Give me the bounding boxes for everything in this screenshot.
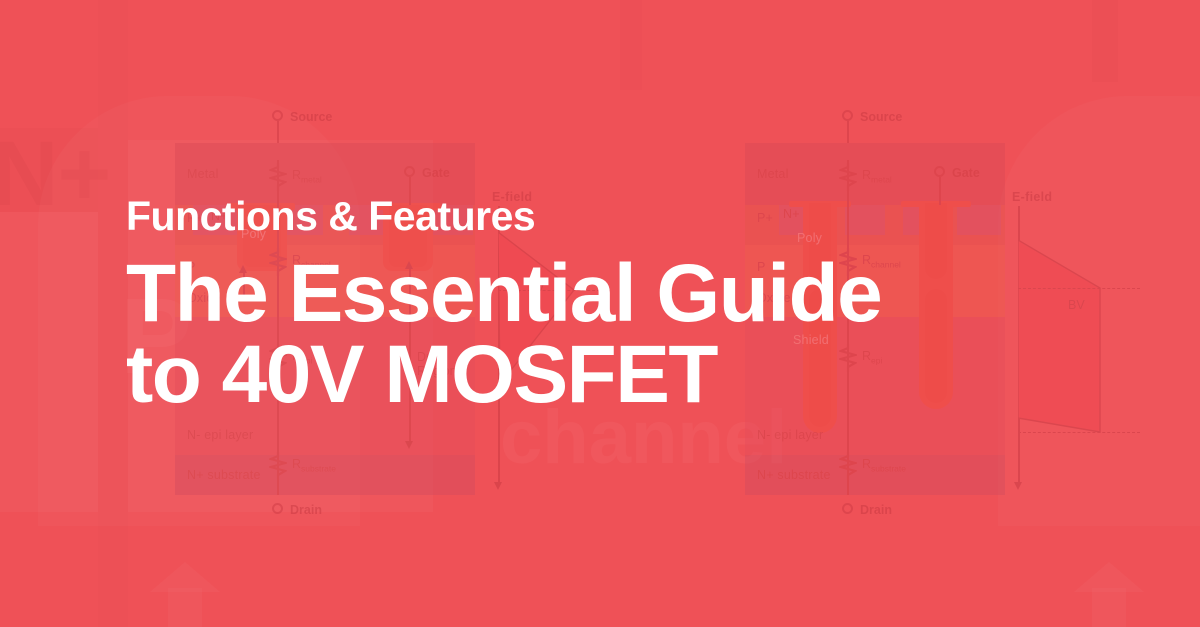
gate-label: Gate — [422, 166, 450, 180]
label-nepi: N- epi layer — [187, 428, 253, 442]
gate-terminal — [934, 166, 945, 177]
label-nepi: N- epi layer — [757, 428, 823, 442]
resistor-rsubstrate — [269, 452, 287, 480]
resistor-rmetal — [269, 163, 287, 191]
efield-axis-label: E-field — [1012, 190, 1052, 204]
drain-label: Drain — [290, 503, 322, 517]
label-rmetal: Rmetal — [292, 168, 322, 185]
label-metal: Metal — [757, 167, 789, 181]
drift-arrow-head-down — [405, 441, 413, 449]
drain-terminal — [842, 503, 853, 514]
nplus-region — [957, 205, 1001, 235]
efield-axis-arrow — [1014, 482, 1022, 490]
gate-trench-shield — [925, 289, 947, 403]
bv-dashed-line-top — [1018, 288, 1140, 289]
source-label: Source — [290, 110, 332, 124]
resistor-rmetal — [839, 163, 857, 191]
label-nsub: N+ substrate — [187, 468, 261, 482]
page-title: The Essential Guide to 40V MOSFET — [126, 253, 881, 415]
source-terminal — [272, 110, 283, 121]
bv-label: BV — [1068, 298, 1085, 312]
label-nsub: N+ substrate — [757, 468, 831, 482]
drain-terminal — [272, 503, 283, 514]
efield-trapezoid-plot — [1018, 240, 1148, 440]
gate-trench-inner — [925, 203, 947, 279]
label-metal: Metal — [187, 167, 219, 181]
hero-text-block: Functions & Features The Essential Guide… — [126, 196, 881, 415]
gate-wire — [939, 177, 941, 205]
resistor-rsubstrate — [839, 452, 857, 480]
drain-label: Drain — [860, 503, 892, 517]
efield-axis-arrow — [494, 482, 502, 490]
gate-label: Gate — [952, 166, 980, 180]
headline-line-1: The Essential Guide — [126, 253, 881, 334]
label-rsubstrate: Rsubstrate — [292, 457, 336, 474]
headline-line-2: to 40V MOSFET — [126, 334, 881, 415]
label-rsubstrate: Rsubstrate — [862, 457, 906, 474]
gate-terminal — [404, 166, 415, 177]
hero-banner: N+ P channel Source — [0, 0, 1200, 627]
eyebrow-text: Functions & Features — [126, 196, 881, 237]
label-rmetal: Rmetal — [862, 168, 892, 185]
source-label: Source — [860, 110, 902, 124]
bv-dashed-line-bottom — [1018, 432, 1140, 433]
source-terminal — [842, 110, 853, 121]
